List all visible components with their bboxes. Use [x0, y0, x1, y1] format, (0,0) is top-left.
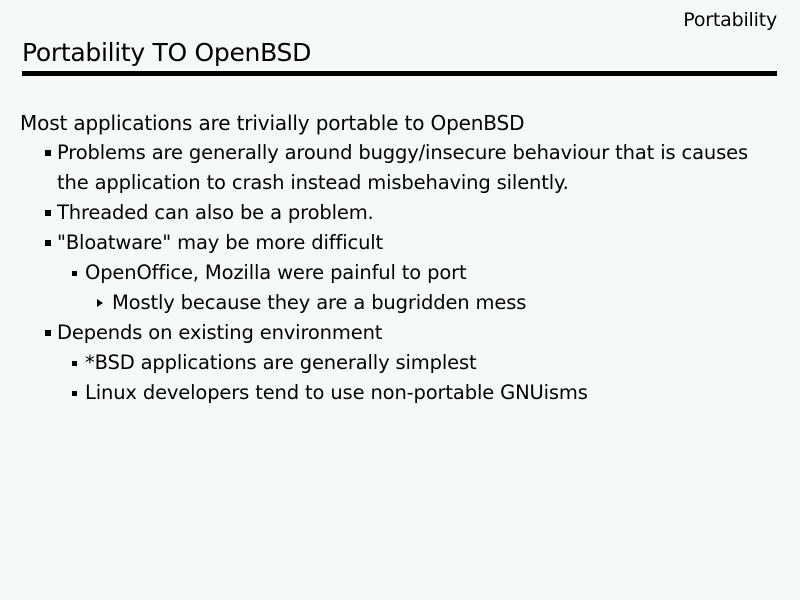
square-bullet-icon: [45, 240, 51, 246]
small-square-bullet-icon: [72, 271, 77, 276]
list-item: "Bloatware" may be more difficult: [20, 228, 780, 258]
list-item: Threaded can also be a problem.: [20, 198, 780, 228]
slide: Portability Portability TO OpenBSD Most …: [0, 0, 800, 600]
list-item-label: *BSD applications are generally simplest: [85, 348, 780, 378]
list-item-label: Problems are generally around buggy/inse…: [57, 138, 780, 198]
square-bullet-icon: [45, 150, 51, 156]
square-bullet-icon: [45, 210, 51, 216]
triangle-bullet-icon: [97, 299, 103, 307]
small-square-bullet-icon: [72, 391, 77, 396]
list-item: Problems are generally around buggy/inse…: [20, 138, 780, 198]
list-item-label: Threaded can also be a problem.: [57, 198, 780, 228]
list-item: Depends on existing environment: [20, 318, 780, 348]
list-item: OpenOffice, Mozilla were painful to port: [20, 258, 780, 288]
slide-content: Most applications are trivially portable…: [20, 108, 780, 408]
square-bullet-icon: [45, 330, 51, 336]
title-divider: [22, 71, 777, 76]
page-title: Portability TO OpenBSD: [22, 38, 777, 68]
list-item-label: "Bloatware" may be more difficult: [57, 228, 780, 258]
list-item: *BSD applications are generally simplest: [20, 348, 780, 378]
running-header: Portability: [22, 8, 777, 32]
list-item-label: Most applications are trivially portable…: [20, 108, 780, 138]
list-item-label: Depends on existing environment: [57, 318, 780, 348]
list-item: Mostly because they are a bugridden mess: [20, 288, 780, 318]
list-item-label: Linux developers tend to use non-portabl…: [85, 378, 780, 408]
small-square-bullet-icon: [72, 361, 77, 366]
list-item-label: Mostly because they are a bugridden mess: [112, 288, 780, 318]
list-item-label: OpenOffice, Mozilla were painful to port: [85, 258, 780, 288]
list-item: Linux developers tend to use non-portabl…: [20, 378, 780, 408]
outline-list: Most applications are trivially portable…: [20, 108, 780, 408]
list-item: Most applications are trivially portable…: [20, 108, 780, 138]
